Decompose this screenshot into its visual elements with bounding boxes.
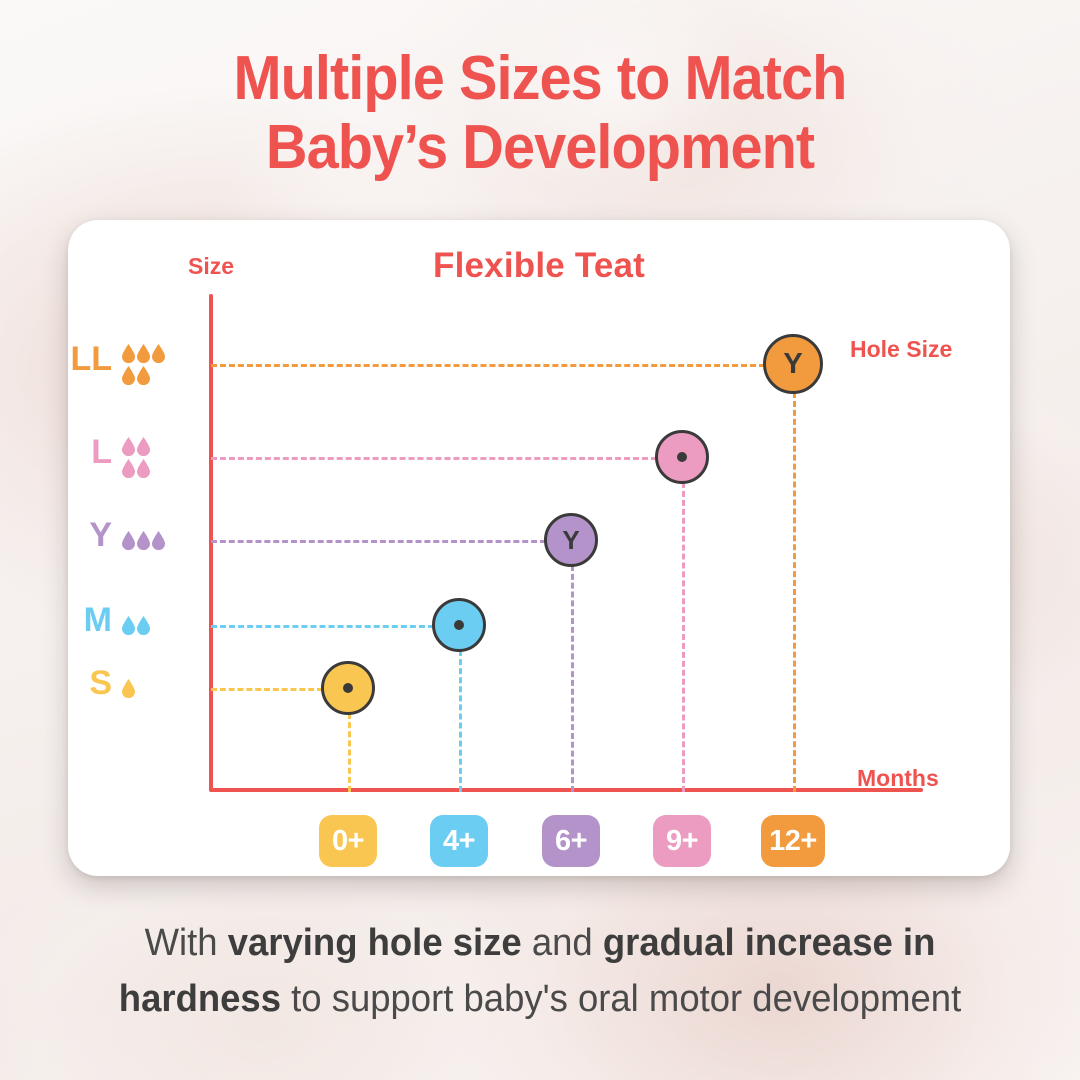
marker-dot-icon: [454, 620, 464, 630]
hole-size-droplets-s: [122, 679, 178, 698]
horizontal-connector-y: [211, 540, 546, 543]
size-row-label-m: M: [60, 601, 112, 640]
vertical-connector-y: [571, 565, 574, 792]
vertical-connector-ll: [793, 392, 796, 792]
y-axis-label: Size: [188, 253, 234, 280]
droplet-icon: [122, 679, 135, 698]
chart-plot-area: Size Months Hole Size LLYLYYMS 0+4+6+9+1…: [68, 220, 1010, 876]
data-point-marker-m[interactable]: [432, 598, 486, 652]
page-title-line-1: Multiple Sizes to Match: [38, 44, 1042, 113]
droplet-icon: [152, 531, 165, 550]
droplet-icon: [137, 344, 150, 363]
caption-bold-1: varying hole size: [228, 922, 522, 964]
chart-card: Flexible Teat Size Months Hole Size LLYL…: [68, 220, 1010, 876]
horizontal-connector-s: [211, 688, 323, 691]
horizontal-connector-m: [211, 625, 434, 628]
month-badge-6plus[interactable]: 6+: [542, 815, 600, 867]
marker-dot-icon: [343, 683, 353, 693]
droplet-icon: [122, 459, 135, 478]
month-badge-12plus[interactable]: 12+: [761, 815, 825, 867]
droplet-icon: [152, 344, 165, 363]
horizontal-connector-l: [211, 457, 657, 460]
vertical-connector-l: [682, 482, 685, 792]
page-title-line-2: Baby’s Development: [38, 113, 1042, 182]
size-row-label-ll: LL: [60, 340, 112, 379]
month-badge-9plus[interactable]: 9+: [653, 815, 711, 867]
horizontal-connector-ll: [211, 364, 765, 367]
droplet-icon: [122, 366, 135, 385]
droplet-icon: [137, 366, 150, 385]
month-badge-4plus[interactable]: 4+: [430, 815, 488, 867]
droplet-icon: [122, 344, 135, 363]
data-point-marker-y[interactable]: Y: [544, 513, 598, 567]
size-row-label-s: S: [60, 664, 112, 703]
page-title: Multiple Sizes to Match Baby’s Developme…: [38, 44, 1042, 183]
caption-part-1: With: [145, 922, 228, 964]
month-badge-0plus[interactable]: 0+: [319, 815, 377, 867]
hole-size-droplets-ll: [122, 344, 168, 385]
droplet-icon: [122, 531, 135, 550]
vertical-connector-m: [459, 650, 462, 792]
marker-glyph: Y: [562, 527, 579, 553]
droplet-icon: [122, 437, 135, 456]
hole-size-droplets-y: [122, 531, 178, 550]
droplet-icon: [137, 616, 150, 635]
droplet-icon: [122, 616, 135, 635]
x-axis-line: [209, 788, 923, 792]
caption-part-2: and: [522, 922, 603, 964]
hole-size-legend-label: Hole Size: [850, 336, 952, 363]
data-point-marker-l[interactable]: [655, 430, 709, 484]
data-point-marker-s[interactable]: [321, 661, 375, 715]
marker-dot-icon: [677, 452, 687, 462]
data-point-marker-ll[interactable]: Y: [763, 334, 823, 394]
size-row-label-y: Y: [60, 516, 112, 555]
caption: With varying hole size and gradual incre…: [60, 916, 1020, 1028]
droplet-icon: [137, 531, 150, 550]
size-row-label-l: L: [60, 433, 112, 472]
marker-glyph: Y: [783, 350, 802, 379]
caption-part-3: to support baby's oral motor development: [281, 978, 961, 1020]
hole-size-droplets-m: [122, 616, 178, 635]
droplet-icon: [137, 459, 150, 478]
vertical-connector-s: [348, 713, 351, 792]
droplet-icon: [137, 437, 150, 456]
hole-size-droplets-l: [122, 437, 153, 478]
